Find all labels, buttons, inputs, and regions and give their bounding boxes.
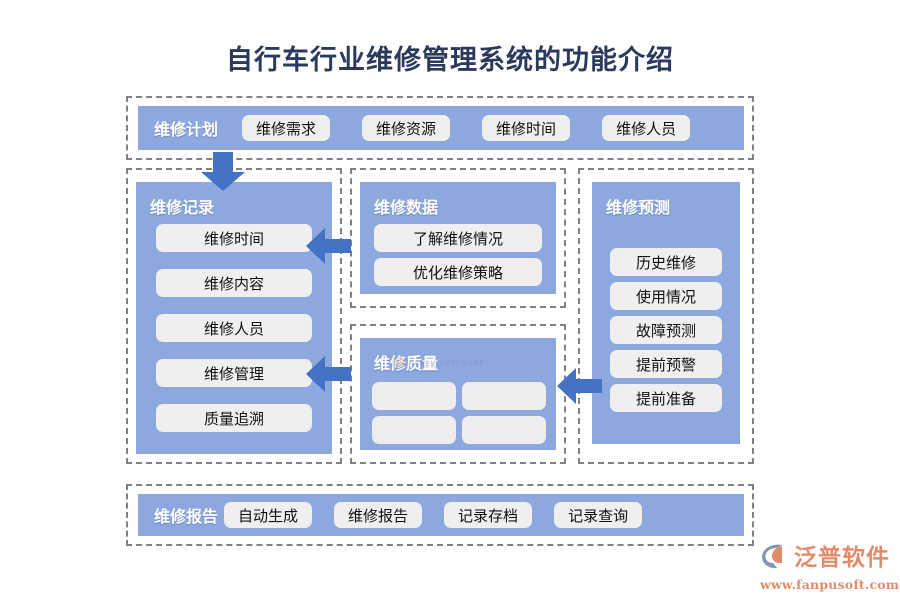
data-item-0[interactable]: 了解维修情况: [374, 224, 542, 252]
arrow-plan-to-record: [199, 152, 247, 192]
record-item-0[interactable]: 维修时间: [156, 224, 312, 252]
report-item-1[interactable]: 维修报告: [334, 502, 422, 528]
plan-item-2[interactable]: 维修时间: [482, 115, 570, 141]
quality-item-0[interactable]: [372, 382, 456, 410]
report-item-2[interactable]: 记录存档: [444, 502, 532, 528]
plan-item-1[interactable]: 维修资源: [362, 115, 450, 141]
quality-item-1[interactable]: [462, 382, 546, 410]
record-item-4[interactable]: 质量追溯: [156, 404, 312, 432]
record-item-1[interactable]: 维修内容: [156, 269, 312, 297]
logo-brand-row: 泛普软件: [760, 542, 892, 574]
forecast-item-2[interactable]: 故障预测: [610, 316, 722, 344]
record-item-3[interactable]: 维修管理: [156, 359, 312, 387]
logo-brand-text: 泛普软件: [794, 547, 890, 570]
quality-panel: 维修质量 FANPU SOFTWARE: [360, 338, 556, 450]
plan-band: 维修计划 维修需求 维修资源 维修时间 维修人员: [138, 106, 744, 150]
forecast-item-1[interactable]: 使用情况: [610, 282, 722, 310]
forecast-panel: 维修预测 历史维修 使用情况 故障预测 提前预警 提前准备: [592, 182, 740, 444]
data-item-1[interactable]: 优化维修策略: [374, 258, 542, 286]
data-panel-title: 维修数据: [374, 194, 438, 218]
record-item-2[interactable]: 维修人员: [156, 314, 312, 342]
arrow-quality-to-record: [306, 354, 352, 394]
forecast-item-0[interactable]: 历史维修: [610, 248, 722, 276]
report-band: 维修报告 自动生成 维修报告 记录存档 记录查询: [138, 494, 744, 536]
quality-item-2[interactable]: [372, 416, 456, 444]
quality-panel-title: 维修质量: [374, 350, 438, 374]
report-band-title: 维修报告: [154, 503, 218, 527]
fanpu-logo: 泛普软件 www.fanpusoft.com: [760, 542, 892, 590]
plan-band-title: 维修计划: [154, 116, 218, 140]
record-panel: 维修记录 维修时间 维修内容 维修人员 维修管理 质量追溯: [136, 182, 332, 454]
plan-item-0[interactable]: 维修需求: [242, 115, 330, 141]
forecast-panel-title: 维修预测: [606, 194, 670, 218]
fanpu-logo-icon: [760, 542, 790, 574]
arrow-data-to-record: [306, 226, 352, 266]
diagram-canvas: 自行车行业维修管理系统的功能介绍 维修计划 维修需求 维修资源 维修时间 维修人…: [0, 0, 900, 600]
data-panel: 维修数据 了解维修情况 优化维修策略: [360, 182, 556, 294]
arrow-forecast-to-quality: [557, 366, 603, 406]
forecast-item-4[interactable]: 提前准备: [610, 384, 722, 412]
quality-item-3[interactable]: [462, 416, 546, 444]
page-title: 自行车行业维修管理系统的功能介绍: [0, 38, 900, 77]
forecast-item-3[interactable]: 提前预警: [610, 350, 722, 378]
record-panel-title: 维修记录: [150, 194, 214, 218]
report-item-3[interactable]: 记录查询: [554, 502, 642, 528]
report-item-0[interactable]: 自动生成: [224, 502, 312, 528]
plan-item-3[interactable]: 维修人员: [602, 115, 690, 141]
logo-url-text: www.fanpusoft.com: [760, 577, 892, 592]
